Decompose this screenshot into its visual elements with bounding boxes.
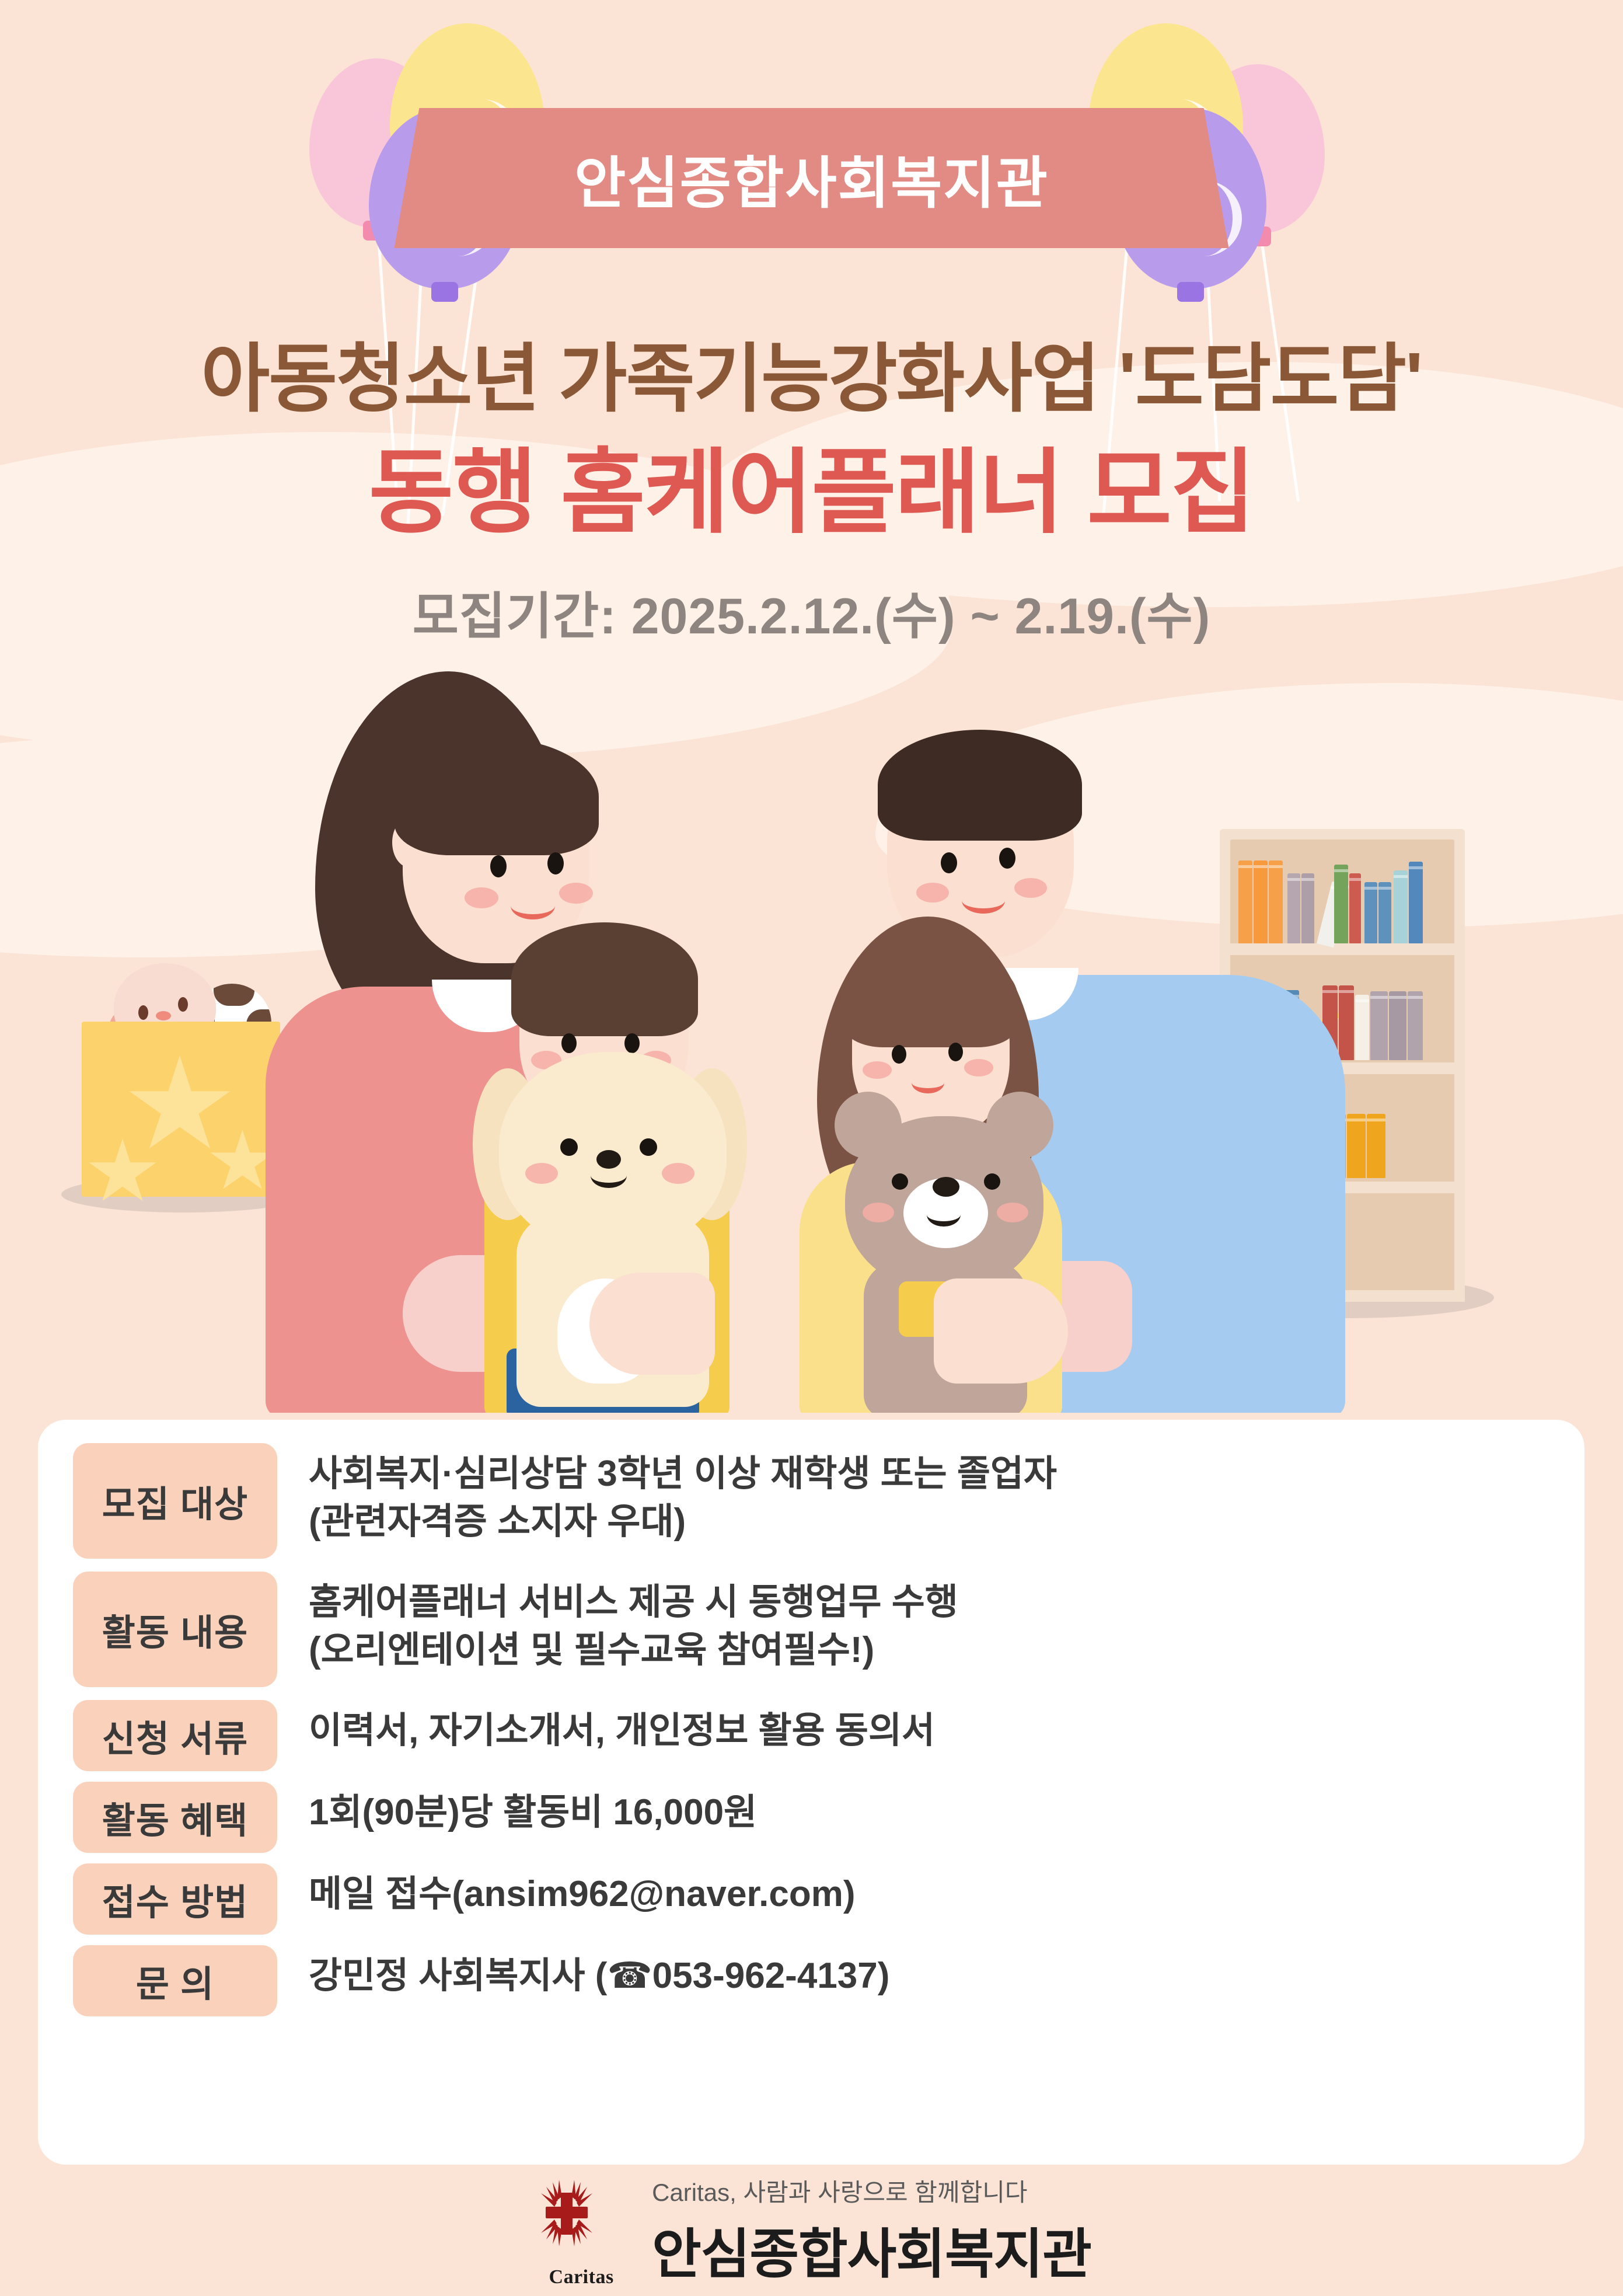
bear-plush-smile (927, 1203, 961, 1227)
girl-eye-right (948, 1043, 963, 1061)
girl-hair-front (843, 948, 1018, 1047)
mother-blush-left (465, 887, 498, 908)
title-line-2: 동행 홈케어플래너 모집 (0, 417, 1623, 551)
book (1269, 860, 1283, 943)
info-label-application-documents: 신청 서류 (73, 1700, 277, 1771)
family-illustration (0, 660, 1623, 1413)
info-value-contact: 강민정 사회복지사 (☎053-962-4137) (309, 1945, 1549, 2000)
father-blush-right (1014, 878, 1047, 898)
book (1394, 870, 1408, 943)
book (1301, 873, 1314, 943)
info-label-recruit-target: 모집 대상 (73, 1443, 277, 1559)
mother-eye-left (490, 855, 507, 877)
mother-smile (511, 892, 555, 919)
info-row-application-documents: 신청 서류 이력서, 자기소개서, 개인정보 활용 동의서 (73, 1700, 1549, 1771)
caritas-logo-caption: Caritas (532, 2266, 631, 2288)
info-row-list: 모집 대상 사회복지·심리상담 3학년 이상 재학생 또는 졸업자 (관련자격증… (73, 1443, 1549, 2027)
book (1367, 1114, 1385, 1178)
caritas-logo-icon: Caritas (532, 2175, 631, 2286)
dog-plush-eye-left (560, 1138, 578, 1156)
father-hair (878, 730, 1082, 841)
rabbit-eye-left (138, 1005, 148, 1020)
info-value-activity-benefit: 1회(90분)당 활동비 16,000원 (309, 1782, 1549, 1837)
recruitment-period: 모집기간: 2025.2.12.(수) ~ 2.19.(수) (0, 575, 1623, 648)
mother-blush-right (559, 883, 593, 904)
footer-text-block: Caritas, 사람과 사랑으로 함께합니다 안심종합사회복지관 (652, 2173, 1091, 2288)
book (1287, 873, 1300, 943)
info-row-contact: 문 의 강민정 사회복지사 (☎053-962-4137) (73, 1945, 1549, 2016)
info-value-application-documents: 이력서, 자기소개서, 개인정보 활용 동의서 (309, 1700, 1549, 1755)
boy-eye-right (624, 1033, 640, 1053)
shelf-board (1220, 943, 1465, 955)
mother-eye-right (547, 852, 564, 874)
balloon-knot (363, 221, 390, 241)
book (1364, 882, 1377, 943)
info-card: 모집 대상 사회복지·심리상담 3학년 이상 재학생 또는 졸업자 (관련자격증… (38, 1420, 1584, 2165)
father-blush-left (916, 883, 949, 903)
info-row-activity-content: 활동 내용 홈케어플래너 서비스 제공 시 동행업무 수행 (오리엔테이션 및 … (73, 1572, 1549, 1687)
book (1378, 882, 1391, 943)
book (1339, 985, 1354, 1060)
info-row-activity-benefit: 활동 혜택 1회(90분)당 활동비 16,000원 (73, 1782, 1549, 1853)
book (1254, 860, 1268, 943)
bear-plush-blush-right (997, 1203, 1028, 1222)
girl-blush-left (863, 1061, 892, 1079)
father-hand (934, 1278, 1068, 1384)
father-smile (962, 887, 1005, 914)
bear-plush-blush-left (863, 1203, 894, 1222)
dog-plush-blush-left (525, 1163, 558, 1184)
dog-plush-eye-right (640, 1138, 657, 1156)
book (1355, 995, 1369, 1060)
mother-hair-front (395, 738, 599, 855)
balloon-knot (1244, 227, 1271, 246)
info-label-contact: 문 의 (73, 1945, 277, 2016)
book (1349, 873, 1361, 943)
footer-content: Caritas Caritas, 사람과 사랑으로 함께합니다 안심종합사회복지… (532, 2173, 1091, 2288)
girl-eye-left (892, 1045, 906, 1064)
ball-patch (214, 984, 254, 1006)
boy-hair (511, 922, 698, 1036)
rabbit-eye-right (178, 997, 188, 1012)
girl-blush-right (964, 1059, 993, 1076)
father-eye-left (941, 852, 957, 873)
bear-plush-eye-left (892, 1173, 908, 1190)
title-line-1: 아동청소년 가족기능강화사업 '도담도담' (0, 318, 1623, 426)
boy-eye-left (561, 1033, 577, 1053)
balloon-knot (431, 282, 458, 302)
balloon-knot (1177, 282, 1204, 302)
dog-plush-blush-right (662, 1163, 694, 1184)
footer-org-name: 안심종합사회복지관 (652, 2211, 1091, 2288)
info-value-recruit-target: 사회복지·심리상담 3학년 이상 재학생 또는 졸업자 (관련자격증 소지자 우… (309, 1443, 1549, 1546)
footer: Caritas Caritas, 사람과 사랑으로 함께합니다 안심종합사회복지… (0, 2165, 1623, 2296)
star-decoration (127, 1055, 232, 1158)
book (1370, 991, 1388, 1060)
girl-smile (912, 1072, 944, 1093)
info-label-application-method: 접수 방법 (73, 1863, 277, 1935)
book (1238, 860, 1252, 943)
mother-hand (589, 1273, 715, 1375)
poster-root: 안심종합사회복지관 아동청소년 가족기능강화사업 '도담도담' 동행 홈케어플래… (0, 0, 1623, 2296)
book (1347, 1114, 1366, 1178)
info-value-application-method: 메일 접수(ansim962@naver.com) (309, 1863, 1549, 1918)
footer-tagline: Caritas, 사람과 사랑으로 함께합니다 (652, 2173, 1091, 2208)
info-value-activity-content: 홈케어플래너 서비스 제공 시 동행업무 수행 (오리엔테이션 및 필수교육 참… (309, 1572, 1549, 1674)
info-label-activity-benefit: 활동 혜택 (73, 1782, 277, 1853)
book (1389, 991, 1406, 1060)
book (1408, 991, 1423, 1060)
book (1409, 862, 1423, 943)
book (1334, 865, 1348, 943)
father-eye-right (999, 848, 1015, 869)
org-banner-label: 안심종합사회복지관 (574, 138, 1049, 219)
info-label-activity-content: 활동 내용 (73, 1572, 277, 1687)
info-row-recruit-target: 모집 대상 사회복지·심리상담 3학년 이상 재학생 또는 졸업자 (관련자격증… (73, 1443, 1549, 1559)
dog-plush-smile (591, 1163, 627, 1188)
toy-box (82, 1022, 280, 1197)
bear-plush-nose (933, 1177, 959, 1197)
bear-plush-eye-right (984, 1173, 1000, 1190)
info-row-application-method: 접수 방법 메일 접수(ansim962@naver.com) (73, 1863, 1549, 1935)
org-banner: 안심종합사회복지관 (395, 108, 1229, 248)
